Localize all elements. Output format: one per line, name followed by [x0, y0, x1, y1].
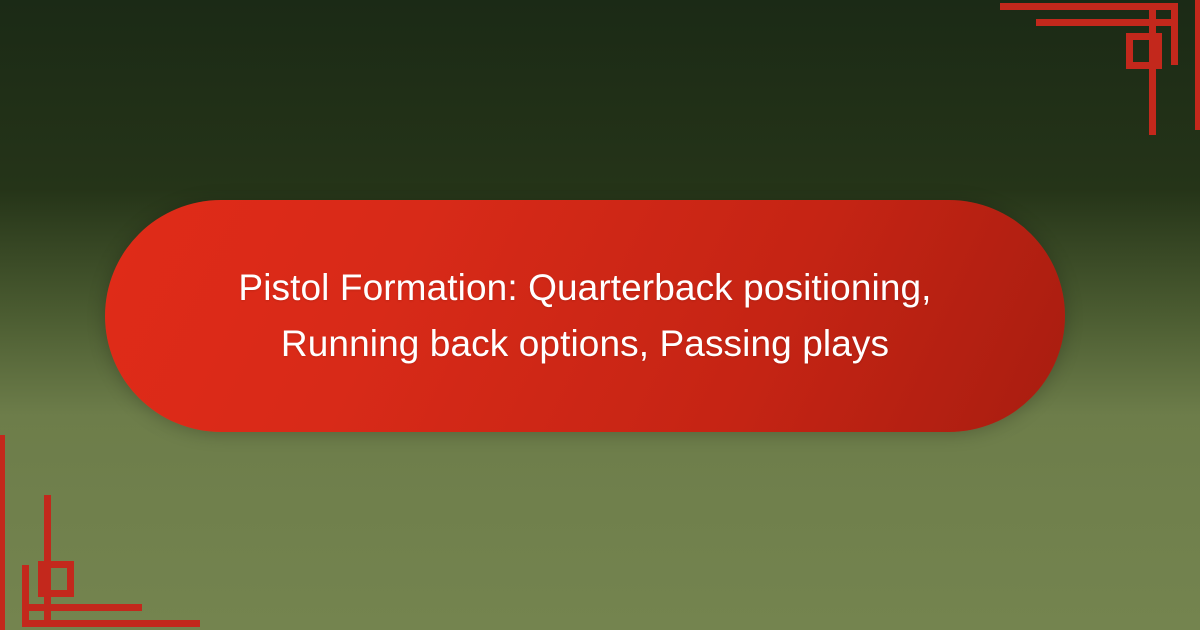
title-card: Pistol Formation: Quarterback positionin…: [105, 200, 1065, 432]
poster-canvas: Pistol Formation: Quarterback positionin…: [0, 0, 1200, 630]
page-title: Pistol Formation: Quarterback positionin…: [145, 260, 1025, 372]
